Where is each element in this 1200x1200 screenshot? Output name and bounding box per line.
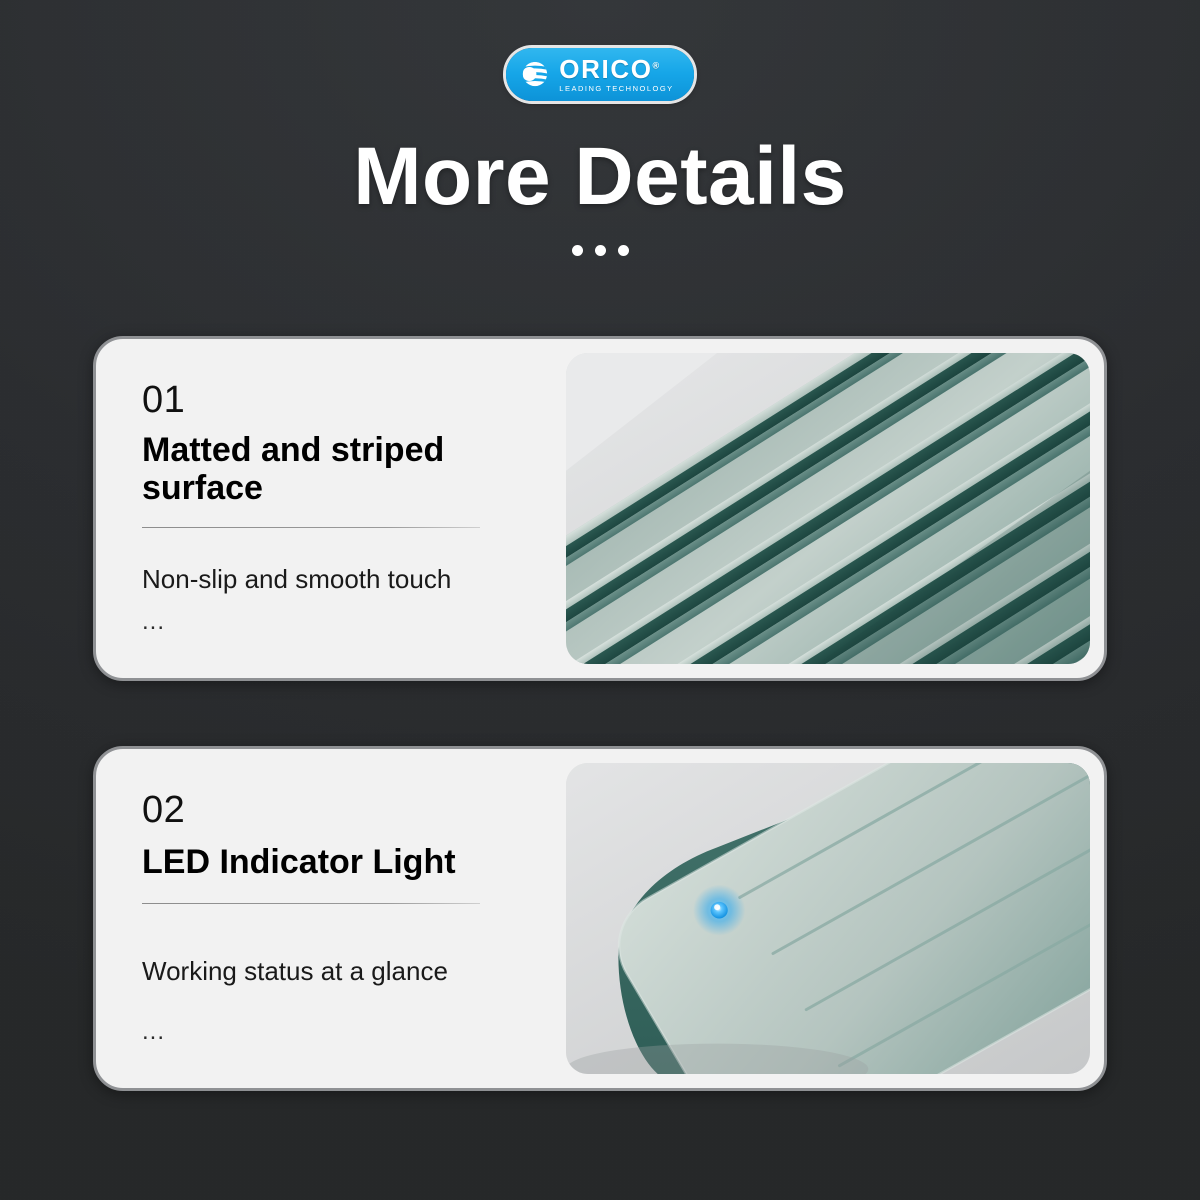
card-heading: Matted and striped surface bbox=[142, 431, 512, 507]
product-photo-led-indicator bbox=[566, 763, 1090, 1074]
title-divider-dots bbox=[0, 245, 1200, 256]
card-heading: LED Indicator Light bbox=[142, 843, 512, 881]
card-text-block: 02 LED Indicator Light Working status at… bbox=[96, 749, 566, 1088]
registered-mark: ® bbox=[653, 60, 660, 70]
globe-icon bbox=[520, 59, 550, 89]
card-divider-rule bbox=[142, 903, 480, 904]
logo-wordmark: ORICO® bbox=[559, 56, 659, 82]
card-ellipsis: ... bbox=[142, 1020, 165, 1044]
brand-logo: ORICO® LEADING TECHNOLOGY bbox=[0, 48, 1200, 101]
logo-name: ORICO bbox=[559, 54, 652, 84]
led-indicator-image bbox=[566, 763, 1090, 1074]
product-detail-page: ORICO® LEADING TECHNOLOGY More Details 0… bbox=[0, 0, 1200, 1200]
logo-pill: ORICO® LEADING TECHNOLOGY bbox=[506, 48, 693, 101]
feature-card-01: 01 Matted and striped surface Non-slip a… bbox=[93, 336, 1107, 681]
card-divider-rule bbox=[142, 527, 480, 528]
card-subtext: Working status at a glance bbox=[142, 956, 566, 987]
card-number: 02 bbox=[142, 791, 566, 829]
card-number: 01 bbox=[142, 381, 566, 419]
logo-text-block: ORICO® LEADING TECHNOLOGY bbox=[559, 56, 673, 93]
card-ellipsis: ... bbox=[142, 610, 165, 634]
product-photo-striped-surface bbox=[566, 353, 1090, 664]
divider-dot bbox=[595, 245, 606, 256]
card-text-block: 01 Matted and striped surface Non-slip a… bbox=[96, 339, 566, 678]
divider-dot bbox=[572, 245, 583, 256]
divider-dot bbox=[618, 245, 629, 256]
striped-surface-image bbox=[566, 353, 1090, 664]
led-core bbox=[711, 902, 728, 919]
logo-tagline: LEADING TECHNOLOGY bbox=[559, 85, 673, 93]
page-title: More Details bbox=[0, 130, 1200, 224]
feature-card-02: 02 LED Indicator Light Working status at… bbox=[93, 746, 1107, 1091]
card-subtext: Non-slip and smooth touch bbox=[142, 564, 566, 595]
